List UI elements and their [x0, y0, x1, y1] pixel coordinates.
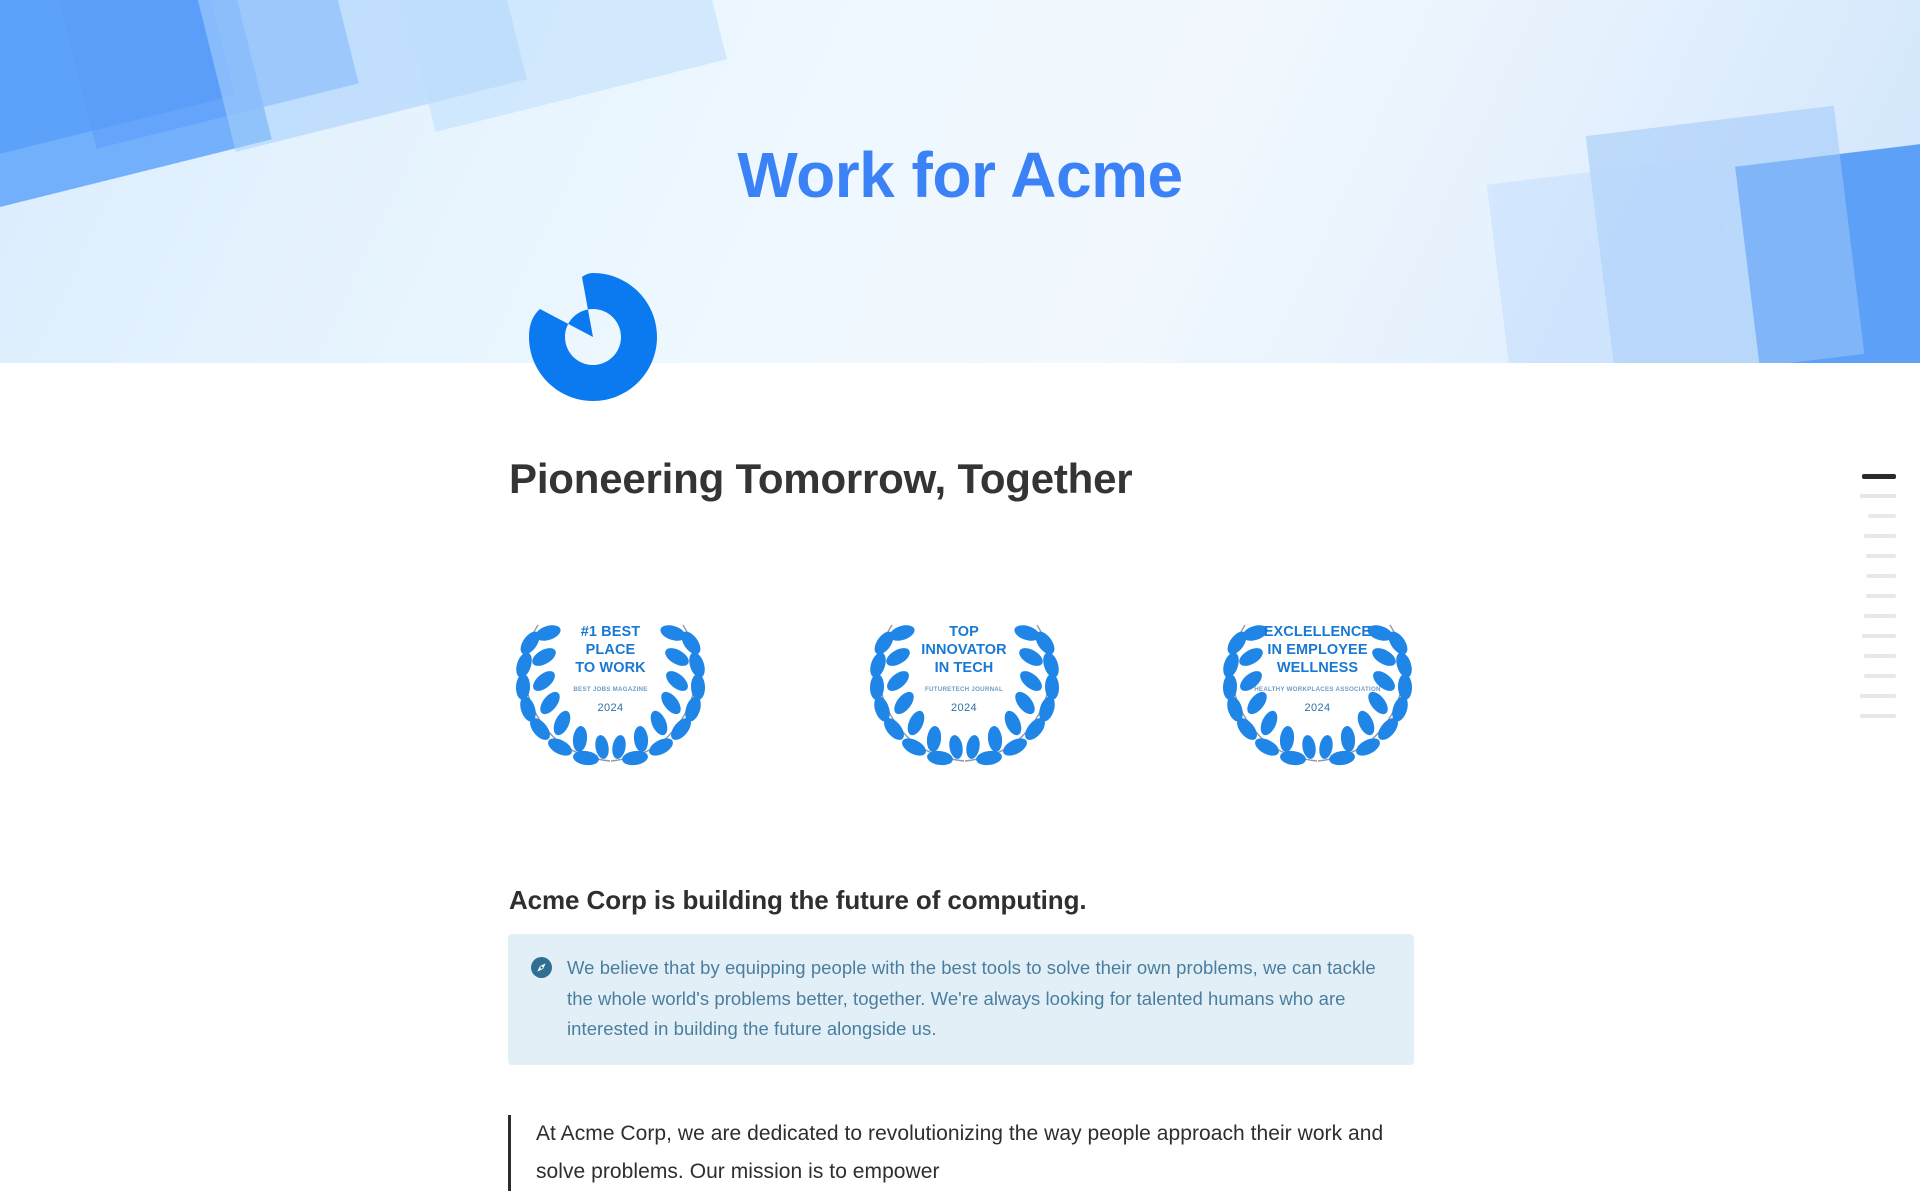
outline-row[interactable]	[1860, 714, 1896, 718]
award-badge: EXCLELLENCEIN EMPLOYEEWELLNESS HEALTHY W…	[1215, 597, 1420, 767]
award-title: TOPINNOVATORIN TECH	[921, 623, 1007, 677]
award-badge-content: TOPINNOVATORIN TECH FUTURETECH JOURNAL 2…	[862, 597, 1067, 767]
mission-callout-text: We believe that by equipping people with…	[567, 953, 1390, 1045]
award-organization: FUTURETECH JOURNAL	[925, 686, 1003, 694]
outline-row[interactable]	[1860, 494, 1896, 498]
award-badges: #1 BESTPLACETO WORK BEST JOBS MAGAZINE 2…	[508, 597, 1420, 767]
outline-row[interactable]	[1864, 534, 1896, 538]
award-badge-content: EXCLELLENCEIN EMPLOYEEWELLNESS HEALTHY W…	[1215, 597, 1420, 767]
content-area: Pioneering Tomorrow, Together	[0, 0, 1920, 1199]
outline-row[interactable]	[1868, 514, 1896, 518]
section-heading: Acme Corp is building the future of comp…	[509, 885, 1087, 916]
acme-swirl-logo-icon	[527, 271, 659, 403]
award-organization: BEST JOBS MAGAZINE	[573, 686, 647, 694]
award-title: #1 BESTPLACETO WORK	[575, 623, 646, 677]
award-title: EXCLELLENCEIN EMPLOYEEWELLNESS	[1264, 623, 1371, 677]
award-organization: HEALTHY WORKPLACES ASSOCIATION	[1254, 686, 1381, 694]
outline-row[interactable]	[1866, 594, 1896, 598]
outline-row[interactable]	[1864, 614, 1896, 618]
award-badge: TOPINNOVATORIN TECH FUTURETECH JOURNAL 2…	[862, 597, 1067, 767]
page-root: Work for Acme Pioneering Tomorrow, Toget…	[0, 0, 1920, 1199]
mission-callout: We believe that by equipping people with…	[508, 934, 1414, 1065]
outline-row[interactable]	[1862, 474, 1896, 479]
award-year: 2024	[951, 702, 977, 714]
outline-row[interactable]	[1860, 694, 1896, 698]
mission-blockquote-text: At Acme Corp, we are dedicated to revolu…	[536, 1115, 1420, 1191]
outline-row[interactable]	[1864, 674, 1896, 678]
mission-blockquote: At Acme Corp, we are dedicated to revolu…	[508, 1115, 1420, 1191]
outline-row[interactable]	[1864, 654, 1896, 658]
award-year: 2024	[597, 702, 623, 714]
outline-row[interactable]	[1862, 634, 1896, 638]
outline-row[interactable]	[1866, 554, 1896, 558]
main-heading: Pioneering Tomorrow, Together	[509, 455, 1132, 503]
compass-icon	[531, 957, 552, 978]
award-badge-content: #1 BESTPLACETO WORK BEST JOBS MAGAZINE 2…	[508, 597, 713, 767]
document-outline-minimap[interactable]	[1850, 466, 1920, 726]
award-badge: #1 BESTPLACETO WORK BEST JOBS MAGAZINE 2…	[508, 597, 713, 767]
outline-row[interactable]	[1866, 574, 1896, 578]
award-year: 2024	[1304, 702, 1330, 714]
